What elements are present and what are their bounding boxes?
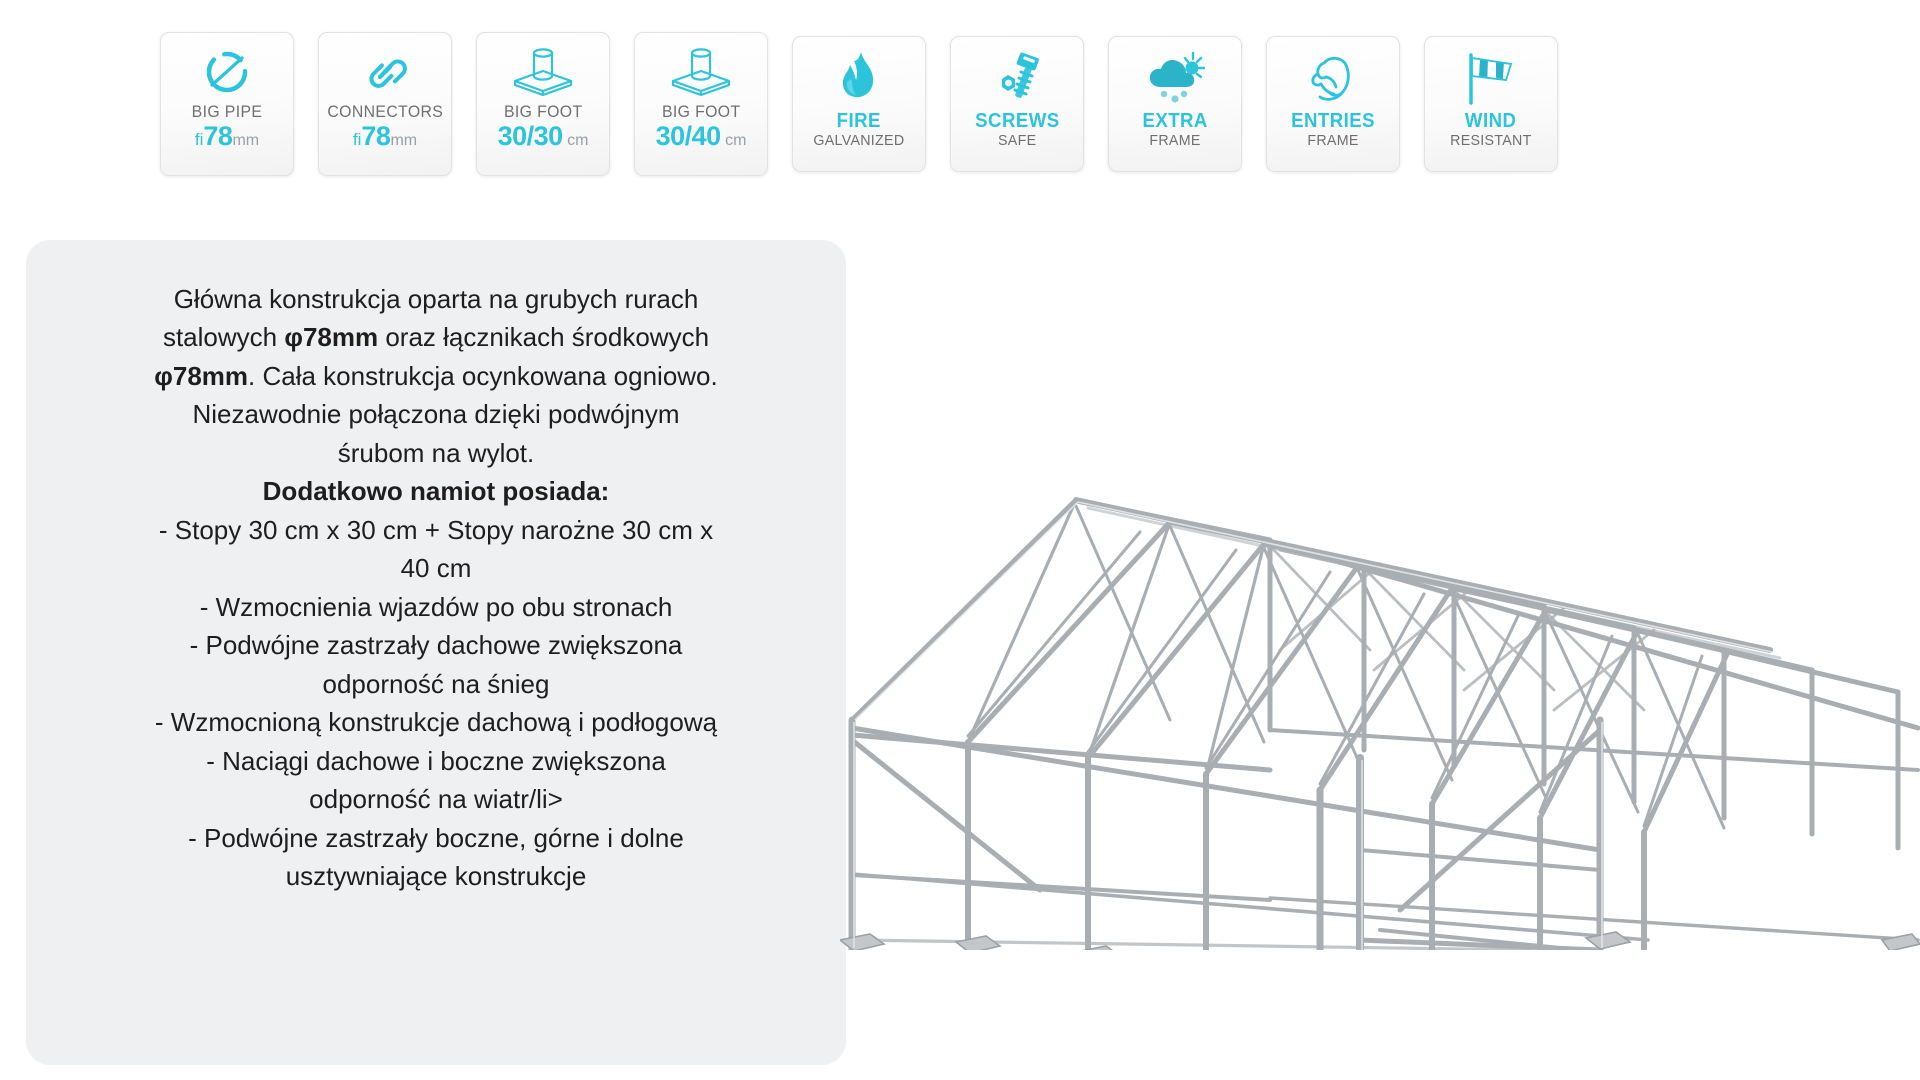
badge-entries-frame[interactable]: ENTRIES FRAME <box>1266 36 1400 172</box>
badge-big-foot-30-40[interactable]: BIG FOOT 30/40 cm <box>634 32 768 176</box>
badge-value: fi78mm <box>353 123 417 150</box>
badge-value-unit: cm <box>725 132 746 149</box>
desc-line: φ78mm. Cała konstrukcja ocynkowana ognio… <box>54 357 818 395</box>
desc-line: odporność na śnieg <box>54 665 818 703</box>
steel-tent-frame-illustration <box>840 250 1920 950</box>
badge-subtitle: RESISTANT <box>1450 133 1531 150</box>
badge-title: FIRE <box>837 111 881 132</box>
badge-subtitle: SAFE <box>998 133 1036 150</box>
desc-line: Główna konstrukcja oparta na grubych rur… <box>54 280 818 318</box>
tent-frame-svg <box>840 250 1920 950</box>
big-foot-plate-icon <box>506 43 580 101</box>
badge-value-unit: cm <box>567 132 588 149</box>
desc-line: odporność na wiatr/li> <box>54 780 818 818</box>
desc-line: - Naciągi dachowe i boczne zwiększona <box>54 742 818 780</box>
windsock-icon <box>1459 47 1523 109</box>
badge-title: BIG FOOT <box>662 103 741 121</box>
badge-title: WIND <box>1465 111 1516 132</box>
desc-line: - Wzmocnienia wjazdów po obu stronach <box>54 588 818 626</box>
feature-badge-strip: BIG PIPE fi78mm CONNECTORS fi78mm <box>160 32 1780 182</box>
badge-value: 30/30 cm <box>498 123 589 150</box>
desc-line: - Podwójne zastrzały dachowe zwiększona <box>54 626 818 664</box>
badge-title: BIG PIPE <box>192 103 263 121</box>
foot-plate <box>956 936 1000 950</box>
badge-value-unit: mm <box>232 132 259 149</box>
badge-extra-frame[interactable]: EXTRA FRAME <box>1108 36 1242 172</box>
badge-value-main: 30/40 <box>656 121 721 151</box>
desc-line: usztywniające konstrukcje <box>54 857 818 895</box>
desc-line: Niezawodnie połączona dzięki podwójnym <box>54 395 818 433</box>
badge-title: SCREWS <box>975 111 1059 132</box>
badge-value: fi78mm <box>195 123 259 150</box>
desc-line: 40 cm <box>54 549 818 587</box>
badge-big-pipe[interactable]: BIG PIPE fi78mm <box>160 32 294 176</box>
badge-value-unit: mm <box>390 132 417 149</box>
desc-line: - Stopy 30 cm x 30 cm + Stopy narożne 30… <box>54 511 818 549</box>
badge-screws-safe[interactable]: SCREWS SAFE <box>950 36 1084 172</box>
badge-title: CONNECTORS <box>327 103 443 121</box>
badge-value-main: 78 <box>203 121 232 151</box>
badge-value: 30/40 cm <box>656 123 747 150</box>
big-foot-plate-icon <box>664 43 738 101</box>
badge-value-main: 78 <box>361 121 390 151</box>
desc-line: śrubom na wylot. <box>54 434 818 472</box>
badge-subtitle: GALVANIZED <box>813 133 904 150</box>
product-description-panel: Główna konstrukcja oparta na grubych rur… <box>26 240 846 1065</box>
badge-title: BIG FOOT <box>504 103 583 121</box>
desc-line: - Podwójne zastrzały boczne, górne i dol… <box>54 819 818 857</box>
no-pipe-icon <box>200 43 254 101</box>
chain-link-icon <box>358 43 412 101</box>
badge-title: EXTRA <box>1142 111 1207 132</box>
desc-line: stalowych φ78mm oraz łącznikach środkowy… <box>54 318 818 356</box>
foot-plate <box>840 934 884 950</box>
badge-subtitle: FRAME <box>1149 133 1200 150</box>
badge-subtitle: FRAME <box>1307 133 1358 150</box>
product-feature-page: BIG PIPE fi78mm CONNECTORS fi78mm <box>0 0 1920 1080</box>
flame-icon <box>834 47 884 109</box>
badge-fire-galvanized[interactable]: FIRE GALVANIZED <box>792 36 926 172</box>
badge-value-main: 30/30 <box>498 121 563 151</box>
badge-wind-resistant[interactable]: WIND RESISTANT <box>1424 36 1558 172</box>
badge-big-foot-30-30[interactable]: BIG FOOT 30/30 cm <box>476 32 610 176</box>
desc-line-heading: Dodatkowo namiot posiada: <box>54 472 818 510</box>
flexed-arm-icon <box>1304 47 1362 109</box>
screw-bolt-icon <box>988 47 1046 109</box>
desc-line: - Wzmocnioną konstrukcje dachową i podło… <box>54 703 818 741</box>
badge-title: ENTRIES <box>1291 111 1375 132</box>
snow-cloud-icon <box>1143 47 1207 109</box>
badge-connectors[interactable]: CONNECTORS fi78mm <box>318 32 452 176</box>
